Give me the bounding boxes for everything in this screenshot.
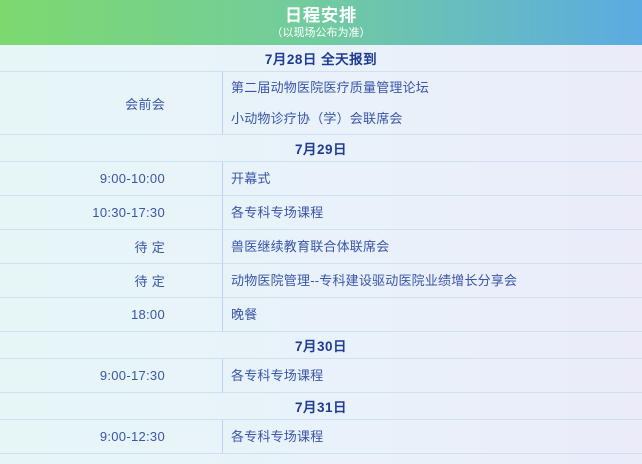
banner-subtitle: （以现场公布为准） bbox=[272, 26, 371, 41]
schedule-time-cell: 9:00-10:00 bbox=[0, 162, 222, 195]
schedule-row: 待 定动物医院管理--专科建设驱动医院业绩增长分享会 bbox=[0, 264, 642, 298]
schedule-description-cell: 第二届动物医院医疗质量管理论坛小动物诊疗协（学）会联席会 bbox=[222, 72, 642, 134]
schedule-time-cell: 待 定 bbox=[0, 230, 222, 263]
schedule-description-cell: 晚餐 bbox=[222, 298, 642, 331]
schedule-row: 18:00晚餐 bbox=[0, 298, 642, 332]
schedule-description-cell: 各专科专场课程 bbox=[222, 359, 642, 392]
schedule-row: 10:30-17:30各专科专场课程 bbox=[0, 196, 642, 230]
schedule-description-cell: 动物医院管理--专科建设驱动医院业绩增长分享会 bbox=[222, 264, 642, 297]
date-header-label: 7月30日 bbox=[0, 335, 642, 355]
date-header-label: 7月28日 全天报到 bbox=[0, 48, 642, 68]
schedule-description-line: 各专科专场课程 bbox=[231, 197, 642, 228]
schedule-description-line: 第二届动物医院医疗质量管理论坛 bbox=[231, 72, 642, 103]
schedule-time-cell: 会前会 bbox=[0, 72, 222, 134]
date-header-label: 7月29日 bbox=[0, 138, 642, 158]
schedule-time-cell: 18:00 bbox=[0, 298, 222, 331]
date-header-row: 7月28日 全天报到 bbox=[0, 45, 642, 72]
schedule-table: 7月28日 全天报到会前会第二届动物医院医疗质量管理论坛小动物诊疗协（学）会联席… bbox=[0, 45, 642, 464]
schedule-time-cell: 9:00-12:30 bbox=[0, 420, 222, 453]
date-header-row: 7月29日 bbox=[0, 135, 642, 162]
schedule-description-line: 兽医继续教育联合体联席会 bbox=[231, 231, 642, 262]
schedule-time-cell: 10:30-17:30 bbox=[0, 196, 222, 229]
schedule-time-cell: 待 定 bbox=[0, 264, 222, 297]
schedule-description-line: 各专科专场课程 bbox=[231, 360, 642, 391]
schedule-description-cell: 各专科专场课程 bbox=[222, 420, 642, 453]
date-header-row: 7月31日 bbox=[0, 393, 642, 420]
schedule-row: 9:00-10:00开幕式 bbox=[0, 162, 642, 196]
schedule-description-line: 动物医院管理--专科建设驱动医院业绩增长分享会 bbox=[231, 265, 642, 296]
schedule-description-line: 小动物诊疗协（学）会联席会 bbox=[231, 103, 642, 134]
schedule-row: 9:00-12:30各专科专场课程 bbox=[0, 420, 642, 454]
banner-title: 日程安排 bbox=[285, 6, 357, 26]
schedule-row: 会前会第二届动物医院医疗质量管理论坛小动物诊疗协（学）会联席会 bbox=[0, 72, 642, 135]
schedule-description-line: 各专科专场课程 bbox=[231, 421, 642, 452]
schedule-row: 9:00-17:30各专科专场课程 bbox=[0, 359, 642, 393]
schedule-description-cell: 各专科专场课程 bbox=[222, 196, 642, 229]
schedule-time-cell: 9:00-17:30 bbox=[0, 359, 222, 392]
schedule-description-line: 开幕式 bbox=[231, 163, 642, 194]
schedule-description-cell: 开幕式 bbox=[222, 162, 642, 195]
date-header-row: 7月30日 bbox=[0, 332, 642, 359]
schedule-description-cell: 兽医继续教育联合体联席会 bbox=[222, 230, 642, 263]
schedule-banner: 日程安排 （以现场公布为准） bbox=[0, 0, 642, 45]
schedule-panel: 日程安排 （以现场公布为准） 7月28日 全天报到会前会第二届动物医院医疗质量管… bbox=[0, 0, 642, 464]
schedule-row: 待 定兽医继续教育联合体联席会 bbox=[0, 230, 642, 264]
table-bottom-strip bbox=[0, 454, 642, 464]
schedule-description-line: 晚餐 bbox=[231, 299, 642, 330]
date-header-label: 7月31日 bbox=[0, 396, 642, 416]
